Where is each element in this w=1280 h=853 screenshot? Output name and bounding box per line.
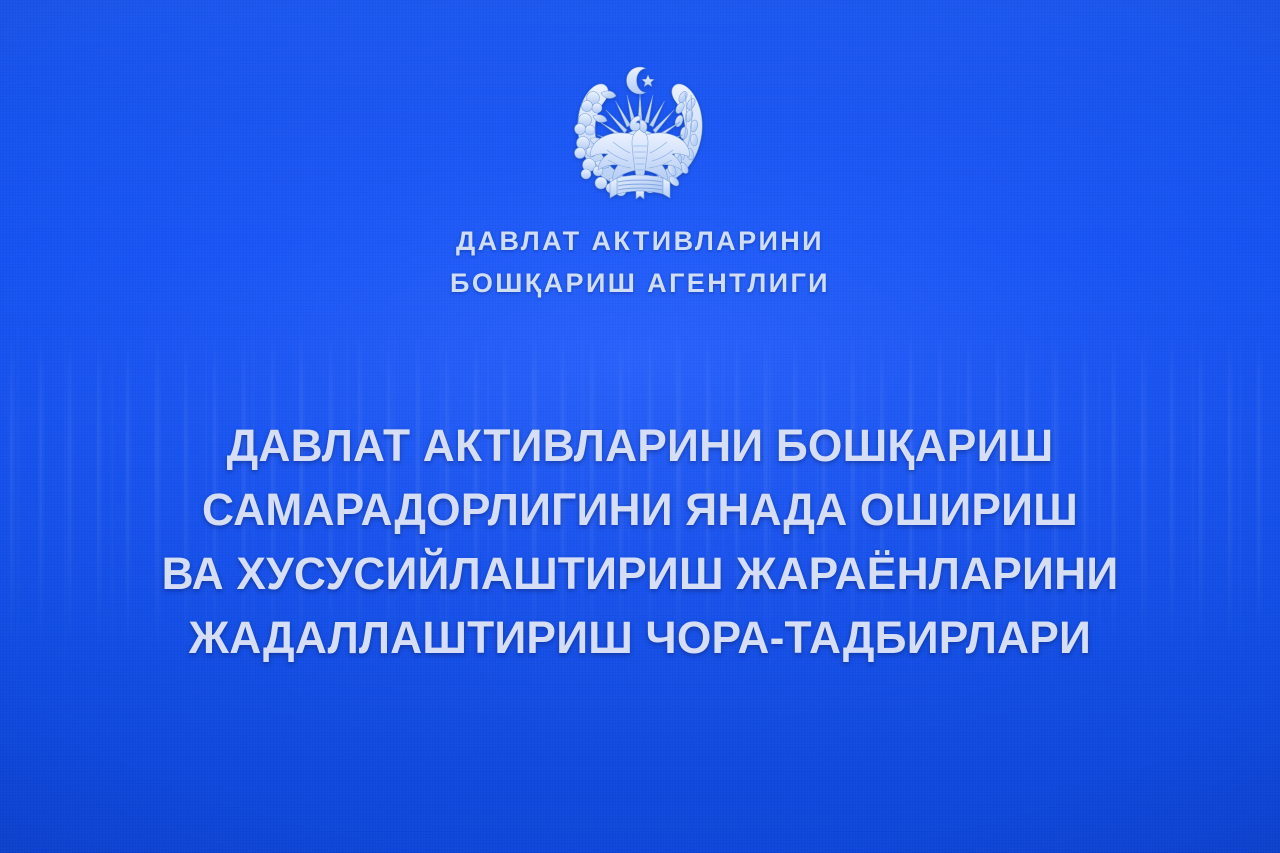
coat-of-arms-of-uzbekistan-icon <box>565 60 715 203</box>
headline-line-4: ЖАДАЛЛАШТИРИШ ЧОРА-ТАДБИРЛАРИ <box>10 606 1271 670</box>
organization-name-line-1: ДАВЛАТ АКТИВЛАРИНИ <box>0 220 1280 262</box>
headline-line-1: ДАВЛАТ АКТИВЛАРИНИ БОШҚАРИШ <box>10 414 1271 478</box>
headline-line-3: ВА ХУСУСИЙЛАШТИРИШ ЖАРАЁНЛАРИНИ <box>10 542 1271 606</box>
headline-line-2: САМАРАДОРЛИГИНИ ЯНАДА ОШИРИШ <box>10 478 1271 542</box>
organization-name-line-2: БОШҚАРИШ АГЕНТЛИГИ <box>0 262 1280 304</box>
emblem-container <box>0 60 1280 203</box>
slide-content: ДАВЛАТ АКТИВЛАРИНИ БОШҚАРИШ АГЕНТЛИГИ ДА… <box>0 0 1280 853</box>
slide-headline: ДАВЛАТ АКТИВЛАРИНИ БОШҚАРИШ САМАРАДОРЛИГ… <box>0 414 1280 670</box>
organization-name: ДАВЛАТ АКТИВЛАРИНИ БОШҚАРИШ АГЕНТЛИГИ <box>0 220 1280 304</box>
presentation-slide: ДАВЛАТ АКТИВЛАРИНИ БОШҚАРИШ АГЕНТЛИГИ ДА… <box>0 0 1280 853</box>
crescent-star-icon <box>627 67 655 94</box>
